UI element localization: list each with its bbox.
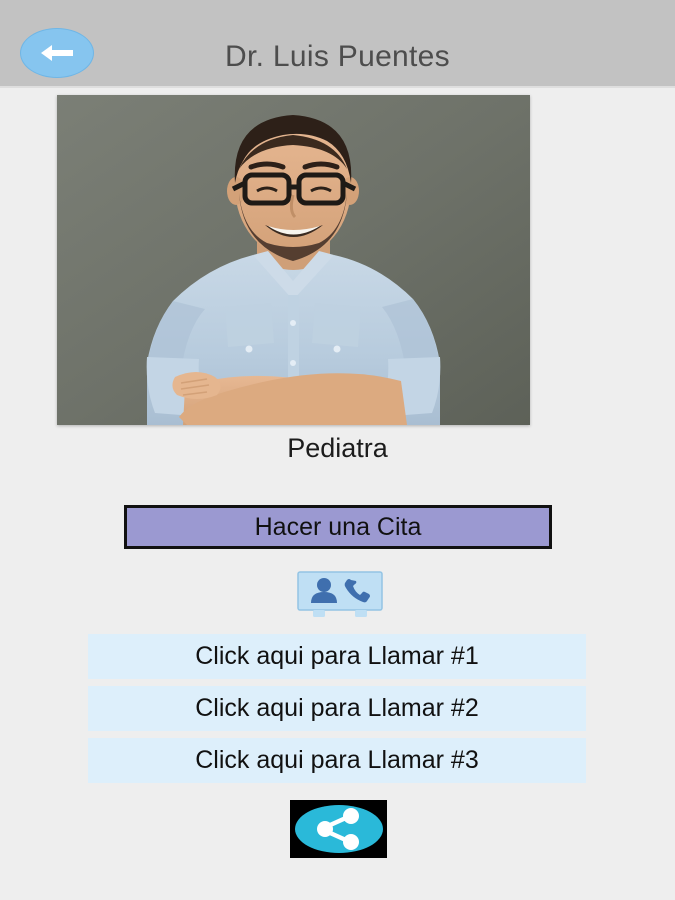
share-icon xyxy=(294,803,384,855)
doctor-photo xyxy=(57,95,530,425)
specialty-label: Pediatra xyxy=(0,433,675,464)
call-button-list: Click aqui para Llamar #1 Click aqui par… xyxy=(88,634,586,790)
call-button-1[interactable]: Click aqui para Llamar #1 xyxy=(88,634,586,679)
call-button-3[interactable]: Click aqui para Llamar #3 xyxy=(88,738,586,783)
share-button[interactable] xyxy=(290,800,387,858)
make-appointment-button[interactable]: Hacer una Cita xyxy=(124,505,552,549)
contact-card-icon[interactable] xyxy=(297,571,383,617)
page-title: Dr. Luis Puentes xyxy=(0,40,675,74)
call-button-2[interactable]: Click aqui para Llamar #2 xyxy=(88,686,586,731)
app-header: Dr. Luis Puentes xyxy=(0,0,675,88)
